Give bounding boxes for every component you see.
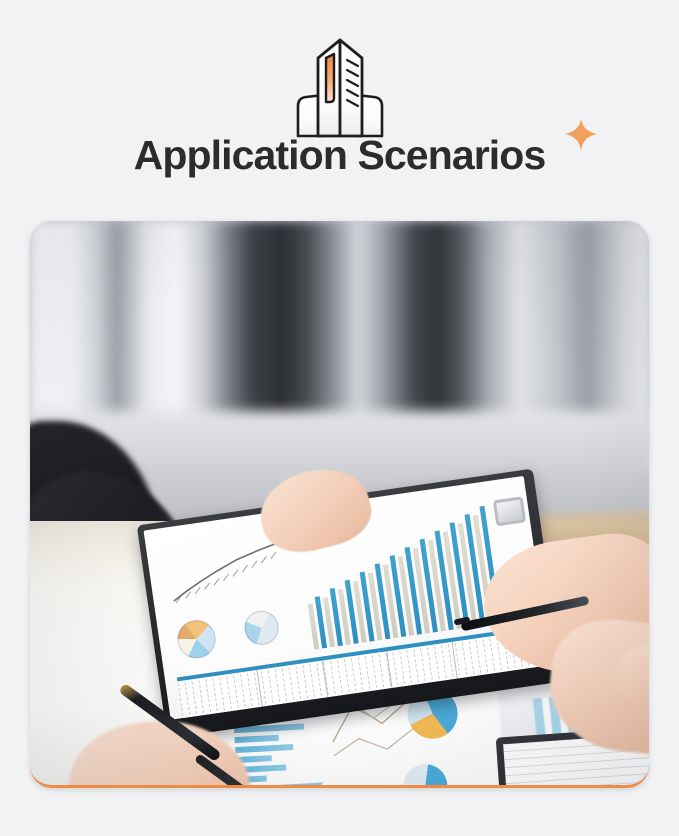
- office-meeting-photo: [30, 221, 649, 785]
- sparkle-icon: [564, 118, 598, 152]
- photo-clipboard-pie-1: [175, 618, 218, 661]
- photo-sheet-pie-2: [402, 763, 448, 785]
- photo-clipboard-pie-2: [242, 609, 281, 648]
- photo-clipboard-clip: [493, 496, 526, 526]
- photo-clipboard-line-chart: [165, 537, 291, 606]
- page-header: Application Scenarios: [0, 0, 679, 212]
- page-title: Application Scenarios: [134, 130, 546, 180]
- building-icon: [280, 36, 400, 140]
- scenario-photo-card: Document Contract: [30, 221, 649, 788]
